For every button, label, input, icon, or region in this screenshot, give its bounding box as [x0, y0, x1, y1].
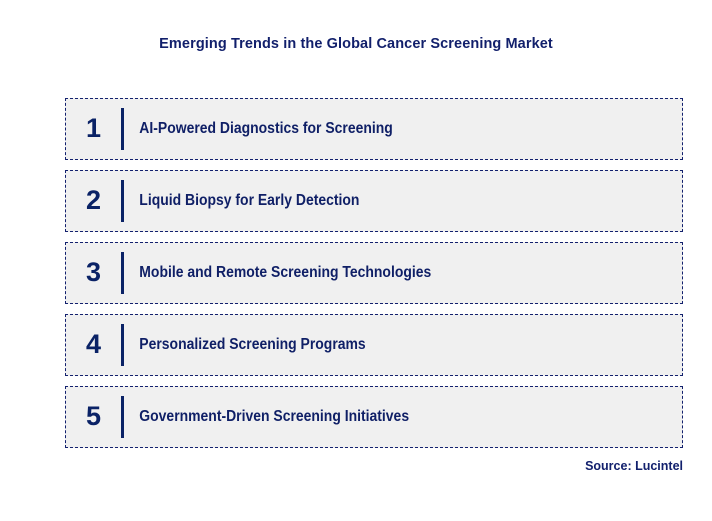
trend-label: Personalized Screening Programs — [124, 336, 626, 354]
trend-number: 1 — [66, 115, 121, 144]
list-item[interactable]: 3 Mobile and Remote Screening Technologi… — [65, 242, 683, 304]
list-item[interactable]: 5 Government-Driven Screening Initiative… — [65, 386, 683, 448]
trend-list: 1 AI-Powered Diagnostics for Screening 2… — [65, 98, 683, 458]
trend-number: 5 — [66, 403, 121, 432]
trend-number: 2 — [66, 187, 121, 216]
trend-number: 4 — [66, 331, 121, 360]
list-item[interactable]: 2 Liquid Biopsy for Early Detection — [65, 170, 683, 232]
trend-label: Liquid Biopsy for Early Detection — [124, 192, 626, 210]
page-title: Emerging Trends in the Global Cancer Scr… — [0, 36, 712, 52]
trend-label: Mobile and Remote Screening Technologies — [124, 264, 626, 282]
source-note: Source: Lucintel — [585, 459, 683, 473]
trend-label: AI-Powered Diagnostics for Screening — [124, 120, 626, 138]
list-item[interactable]: 1 AI-Powered Diagnostics for Screening — [65, 98, 683, 160]
trend-number: 3 — [66, 259, 121, 288]
trend-label: Government-Driven Screening Initiatives — [124, 408, 626, 426]
list-item[interactable]: 4 Personalized Screening Programs — [65, 314, 683, 376]
